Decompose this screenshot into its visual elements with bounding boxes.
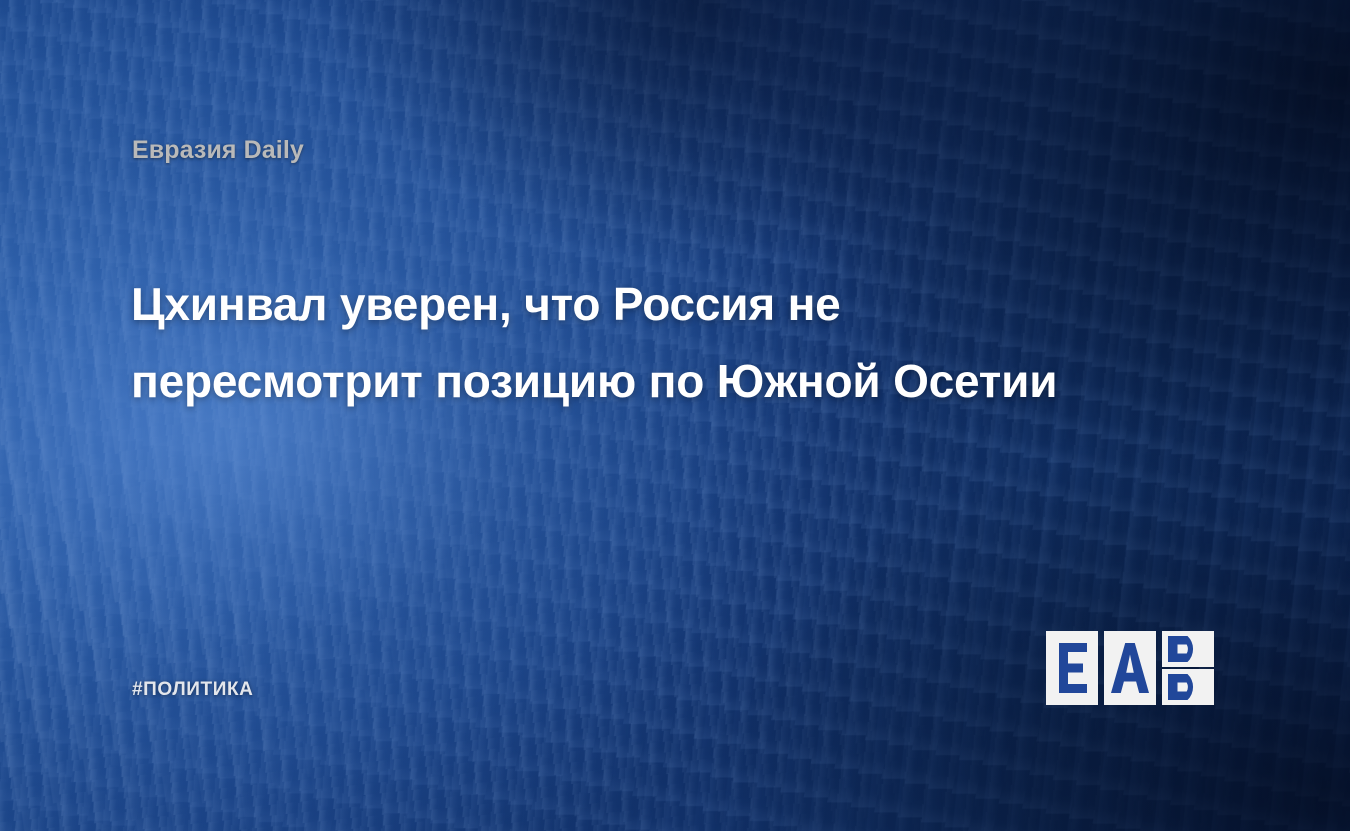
logo-tile-d-top xyxy=(1162,631,1214,667)
logo-tile-e xyxy=(1046,631,1098,705)
logo-tile-a xyxy=(1104,631,1156,705)
category-tag[interactable]: #ПОЛИТИКА xyxy=(132,679,254,701)
eadaily-logo[interactable] xyxy=(1046,631,1220,705)
brand-name: Евразия Daily xyxy=(132,136,304,165)
card-content: Евразия Daily Цхинвал уверен, что Россия… xyxy=(0,0,1350,831)
page-title: Цхинвал уверен, что Россия не пересмотри… xyxy=(131,266,1131,420)
social-share-card: Евразия Daily Цхинвал уверен, что Россия… xyxy=(0,0,1350,831)
logo-tile-d-bottom xyxy=(1162,669,1214,705)
logo-tile-d-stack xyxy=(1162,631,1214,705)
